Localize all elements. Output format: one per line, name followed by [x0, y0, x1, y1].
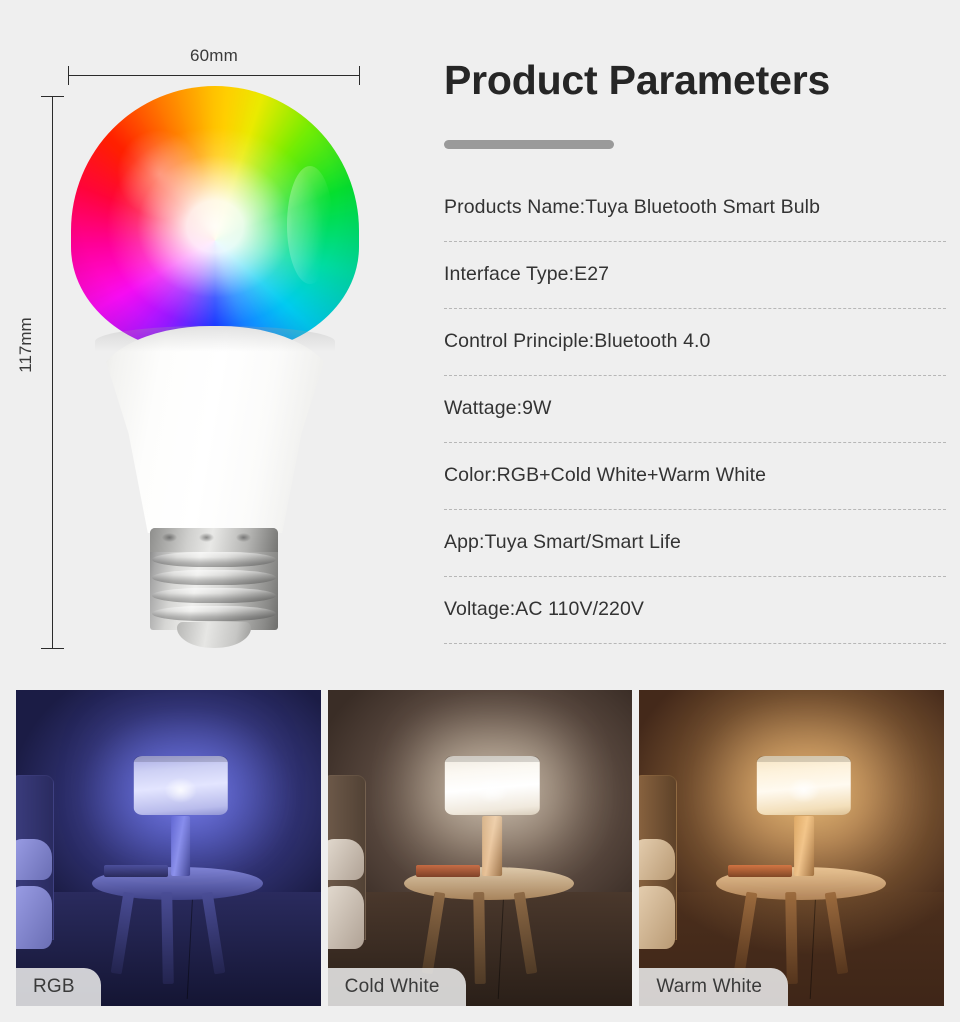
bed-pillow: [639, 886, 675, 949]
dimension-height-label: 117mm: [16, 297, 36, 393]
spec-row-interface-type: Interface Type:E27: [444, 242, 946, 309]
bulb-base-thread: [152, 606, 276, 621]
lamp-glow: [164, 778, 196, 803]
lamp-shade: [757, 756, 851, 814]
side-table-leg: [473, 892, 486, 984]
product-parameters-panel: Product Parameters Products Name:Tuya Bl…: [444, 58, 946, 644]
bulb-base-thread: [152, 552, 276, 567]
side-table-leg: [785, 892, 798, 984]
spec-row-color: Color:RGB+Cold White+Warm White: [444, 443, 946, 510]
lamp-glow: [788, 778, 820, 803]
lamp-shade: [445, 756, 539, 814]
spec-list: Products Name:Tuya Bluetooth Smart Bulb …: [444, 175, 946, 644]
smart-bulb-illustration: [62, 78, 368, 648]
lamp-glow: [476, 778, 508, 803]
title-accent-bar: [444, 140, 614, 149]
lamp-shade-rim: [445, 756, 539, 761]
bulb-globe-icon: [71, 86, 359, 354]
bulb-base-dent: [236, 533, 251, 542]
bed-pillow: [639, 839, 675, 880]
bulb-base-dent: [162, 533, 177, 542]
gallery-label-rgb: RGB: [16, 968, 101, 1006]
bed-pillow: [16, 839, 52, 880]
bed-pillow: [328, 839, 364, 880]
bed-pillow: [16, 886, 52, 949]
bulb-edge-shading: [71, 86, 359, 354]
book-on-table: [104, 865, 168, 876]
page-title: Product Parameters: [444, 58, 946, 104]
lighting-mode-gallery: RGB Cold White: [0, 690, 960, 1022]
bulb-body: [95, 326, 335, 533]
gallery-shot-cold-white[interactable]: Cold White: [328, 690, 633, 1006]
lamp-shade-rim: [757, 756, 851, 761]
bulb-base-dent: [199, 533, 214, 542]
gallery-label-warm-white: Warm White: [639, 968, 788, 1006]
spec-row-control-principle: Control Principle:Bluetooth 4.0: [444, 309, 946, 376]
spec-row-wattage: Wattage:9W: [444, 376, 946, 443]
dimension-height-line: [52, 96, 53, 648]
dimension-width-label: 60mm: [68, 46, 360, 66]
dimension-width-line: [68, 75, 360, 76]
product-detail-page: 60mm 117mm: [0, 0, 960, 1022]
lamp-stem: [171, 816, 191, 876]
gallery-label-cold-white: Cold White: [328, 968, 466, 1006]
lamp-stem: [482, 816, 502, 876]
gallery-shot-rgb[interactable]: RGB: [16, 690, 321, 1006]
bed-pillow: [328, 886, 364, 949]
bulb-base-tip: [177, 622, 251, 648]
book-on-table: [416, 865, 480, 876]
bulb-base-thread: [152, 588, 276, 603]
spec-row-product-name: Products Name:Tuya Bluetooth Smart Bulb: [444, 175, 946, 242]
lamp-stem: [794, 816, 814, 876]
gallery-shot-warm-white[interactable]: Warm White: [639, 690, 944, 1006]
lamp-shade: [133, 756, 227, 814]
side-table-leg: [161, 892, 174, 984]
spec-row-app: App:Tuya Smart/Smart Life: [444, 510, 946, 577]
product-hero-section: 60mm 117mm: [0, 0, 960, 688]
book-on-table: [728, 865, 792, 876]
dimension-height-cap-top: [41, 96, 64, 97]
lamp-shade-rim: [133, 756, 227, 761]
spec-row-voltage: Voltage:AC 110V/220V: [444, 577, 946, 644]
bulb-base-thread: [152, 570, 276, 585]
dimension-height-cap-bottom: [41, 648, 64, 649]
bulb-body-shadow: [95, 326, 335, 352]
